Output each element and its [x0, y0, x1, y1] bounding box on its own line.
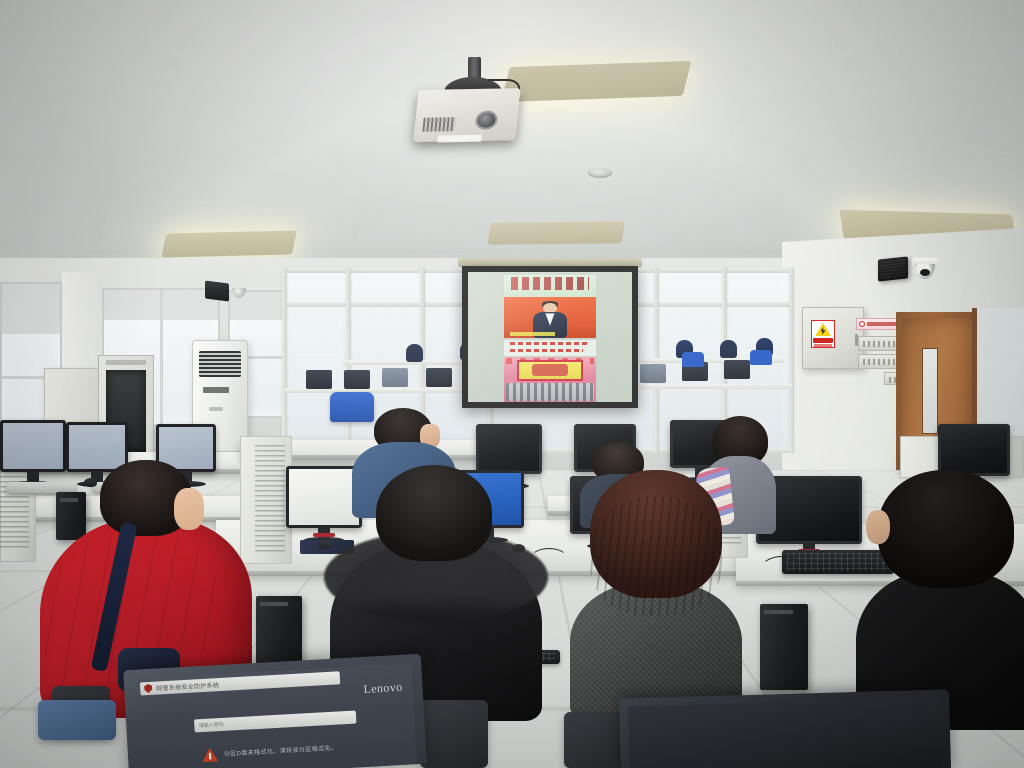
desk-partition-center [240, 436, 292, 564]
smoke-detector-icon [588, 168, 612, 178]
foreground-monitor-right[interactable] [619, 689, 951, 768]
broadcast-caption-line-2 [510, 349, 583, 352]
danger-sign-text [867, 322, 899, 326]
broadcast-content [504, 272, 596, 402]
password-input[interactable]: 请输入密码 [194, 711, 356, 733]
electric-shock-warning-sign [811, 320, 835, 348]
wall-speaker-left [205, 281, 229, 302]
far-monitor [724, 360, 750, 379]
face [174, 488, 204, 530]
ac-vent-grill [199, 351, 241, 377]
hair-strands [590, 496, 722, 616]
camera-lens-icon [920, 269, 930, 276]
light-fixture-main [508, 67, 684, 97]
ceiling-projector [416, 75, 518, 141]
projector-body [413, 88, 521, 142]
format-alert-text: 分区D盘未格式化，请将该分区格式化。 [224, 743, 338, 758]
danger-icon [859, 321, 865, 327]
projector-vent [422, 117, 456, 132]
far-monitor [382, 368, 408, 387]
roller-blind-1[interactable] [2, 284, 60, 334]
projection-screen-canvas [468, 272, 632, 402]
shield-icon [144, 684, 152, 693]
password-input-placeholder: 请输入密码 [199, 721, 224, 729]
foreground-lenovo-monitor[interactable]: 网管系统安全防护系统 Lenovo 请输入密码 分区D盘未格式化，请将该分区格式… [123, 654, 427, 768]
wall-speaker [878, 256, 908, 281]
far-chair [750, 350, 772, 365]
projection-screen [462, 266, 638, 408]
warning-sign-text-en [814, 344, 832, 347]
hair [878, 470, 1014, 588]
projector-lens-icon [477, 112, 497, 127]
warning-sign-text-cn [813, 338, 833, 343]
light-fixture-left [168, 237, 289, 253]
chair-left-seat[interactable] [38, 700, 116, 740]
monitor-off-far-right[interactable] [938, 424, 1010, 476]
dome-security-camera [912, 258, 938, 280]
dialog-title-text: 网管系统安全防护系统 [156, 680, 219, 693]
desktop-tower-right[interactable] [760, 604, 808, 690]
person-dark-coat-right [856, 470, 1024, 720]
foreground-monitor-right-screen[interactable] [628, 698, 942, 768]
broadcast-emblem [532, 364, 569, 376]
far-chair [682, 352, 704, 367]
ac-control-button[interactable] [209, 407, 223, 411]
format-alert: 分区D盘未格式化，请将该分区格式化。 [202, 739, 369, 762]
hair [376, 465, 492, 561]
far-monitor [426, 368, 452, 387]
chair-center[interactable] [420, 700, 488, 768]
person-brown-hair [570, 470, 742, 710]
warning-icon [202, 747, 219, 762]
projector-label [437, 135, 482, 143]
warning-triangle-icon [815, 323, 831, 336]
broadcast-caption-line-1 [510, 342, 589, 345]
ac-display [203, 387, 229, 393]
far-person [720, 340, 737, 358]
far-monitor [640, 364, 666, 383]
far-monitor [344, 370, 370, 389]
broadcast-program-title [511, 277, 588, 290]
electrical-cabinet[interactable] [802, 307, 864, 369]
far-person [406, 344, 423, 362]
broadcast-speaker-photo [504, 297, 596, 339]
foreground-monitor-screen[interactable]: 网管系统安全防护系统 Lenovo 请输入密码 分区D盘未格式化，请将该分区格式… [134, 663, 417, 768]
door-vision-panel [922, 348, 938, 434]
photo-scene: 网管系统安全防护系统 Lenovo 请输入密码 分区D盘未格式化，请将该分区格式… [0, 0, 1024, 768]
light-fixture-mid [494, 227, 618, 239]
cable-right [760, 556, 804, 584]
broadcast-audience-seats [506, 383, 594, 401]
lenovo-logo: Lenovo [363, 680, 403, 697]
face [866, 510, 890, 544]
broadcast-name-strap [510, 332, 556, 335]
server-rack-label [106, 360, 146, 365]
dialog-titlebar: 网管系统安全防护系统 [140, 671, 341, 695]
far-monitor [306, 370, 332, 389]
